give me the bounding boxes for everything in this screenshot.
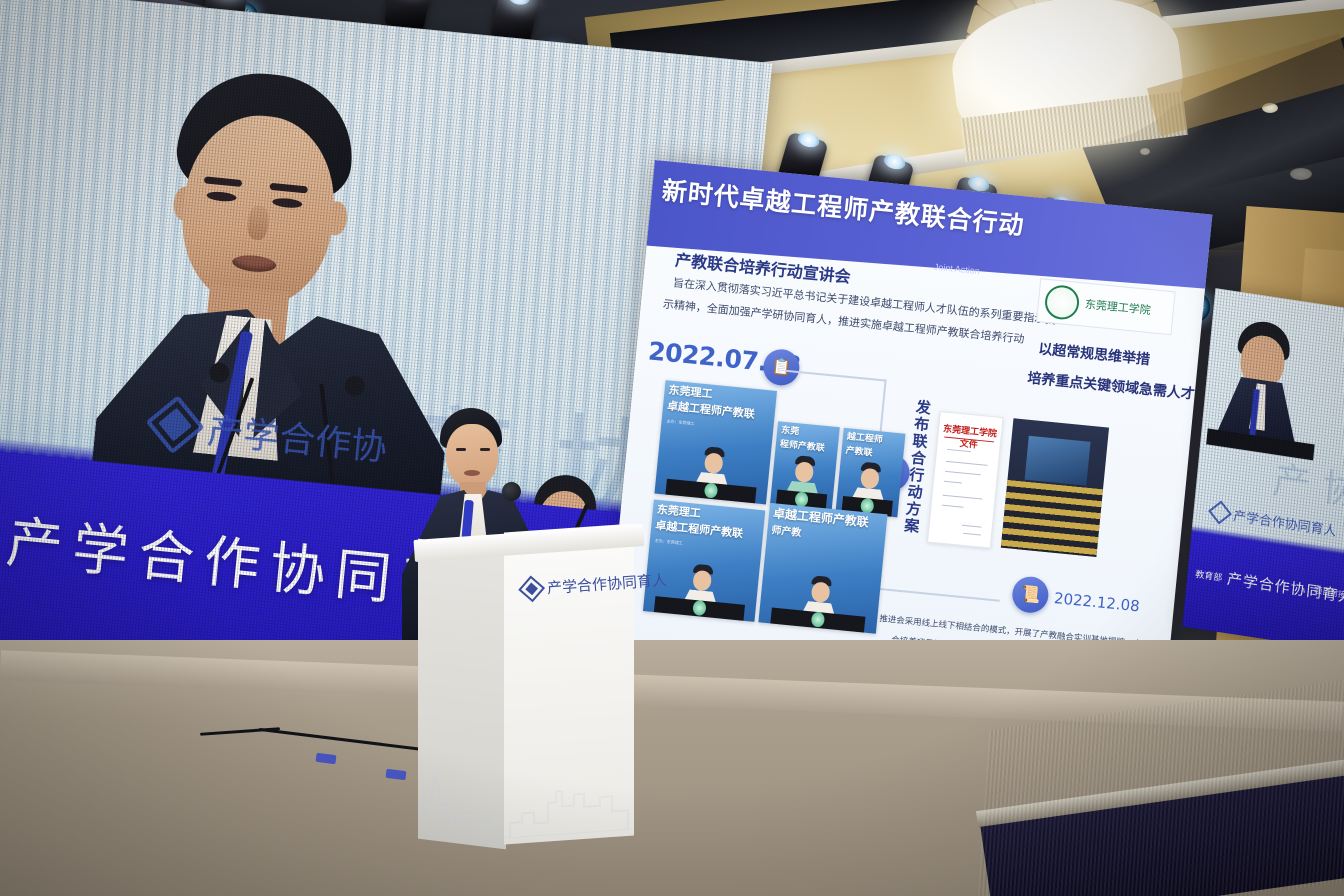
slide-thumbnail: 越工程师 产教联 [836,428,906,518]
slide-date-right: 2022.12.08 [1053,589,1140,615]
slide-thumbnail: 东莞 程师产教联 [770,421,840,511]
document-text-line [946,461,988,466]
conference-stage-photo: 育 协 [0,0,1344,896]
flow-connector [878,588,1000,602]
auditorium-audience-rows [1001,480,1103,557]
skyline-graphic-icon [418,757,506,844]
thumbnail-person-head [811,581,831,603]
thumbnail-person-head [692,570,712,592]
thumbnail-title: 东莞 [781,426,837,442]
podium: 产学合作协同育人 [418,528,634,858]
right-led-wall: 产 协 产学合作协同育人 教育部 产学合作协同育人 项目对接会 [1182,288,1344,652]
slide-thumbnail: 东莞理工 卓越工程师产教联 主办：东莞理工 [643,500,765,622]
thumbnail-subtitle: 程师产教联 [779,440,835,456]
speaker-mouth [464,470,480,476]
diamond-logo-icon [518,575,545,602]
thumbnail-subtitle: 产教联 [845,446,901,462]
thumbnail-caption: 主办：东莞理工 [655,538,683,547]
thumbnail-title: 越工程师 [846,432,902,448]
presentation-slide: 新时代卓越工程师产教联合行动 Joint Action 产教联合培养行动宣讲会 … [606,160,1212,712]
slide-vertical-label: 发布联合行动方案 [896,399,931,590]
thumbnail-caption: 主办：东莞理工 [666,418,694,427]
document-text-line [942,505,964,509]
microphone-head-icon [502,482,521,501]
right-screen-speaker [1213,316,1310,448]
right-screen-watermark: 产 协 [1271,449,1344,517]
ministry-label: 教育部 [1195,567,1223,584]
document-card: 东莞理工学院文件 [927,411,1004,549]
document-text-line [963,533,981,536]
slide-slogan-line2: 培养重点关键领域急需人才 [1027,367,1196,403]
slide-thumbnail: 卓越工程师产教联 师产教 [758,503,887,634]
auditorium-photo [1001,418,1109,557]
diamond-logo-icon [1208,501,1232,525]
skyline-graphic-icon [504,753,634,838]
certificate-icon: 📜 [1011,575,1050,614]
speaker-eye [480,448,490,451]
slide-thumbnail: 东莞理工 卓越工程师产教联 主办：东莞理工 [654,380,777,504]
auditorium-stage-screen [1025,435,1090,485]
thumbnail-person-head [860,468,880,490]
speaker-eye [456,448,466,451]
speaker-face [446,424,498,488]
document-text-line [962,525,982,528]
podium-left-face [418,539,506,850]
thumbnail-person-head [704,452,724,474]
university-logo-block: 东莞理工学院 [1036,278,1176,335]
university-name: 东莞理工学院 [1084,299,1151,317]
slide-slogan-line1: 以超常规思维举措 [1037,338,1150,369]
thumbnail-person-head [794,461,814,483]
right-screen-blue-banner: 教育部 产学合作协同育人 项目对接会 [1182,532,1344,652]
document-text-line [944,481,962,484]
ceiling-downlight-icon [1290,168,1312,180]
document-text-line [943,495,983,500]
flow-connector [785,370,887,382]
university-seal-icon [1043,284,1080,321]
document-text-line [945,471,981,476]
